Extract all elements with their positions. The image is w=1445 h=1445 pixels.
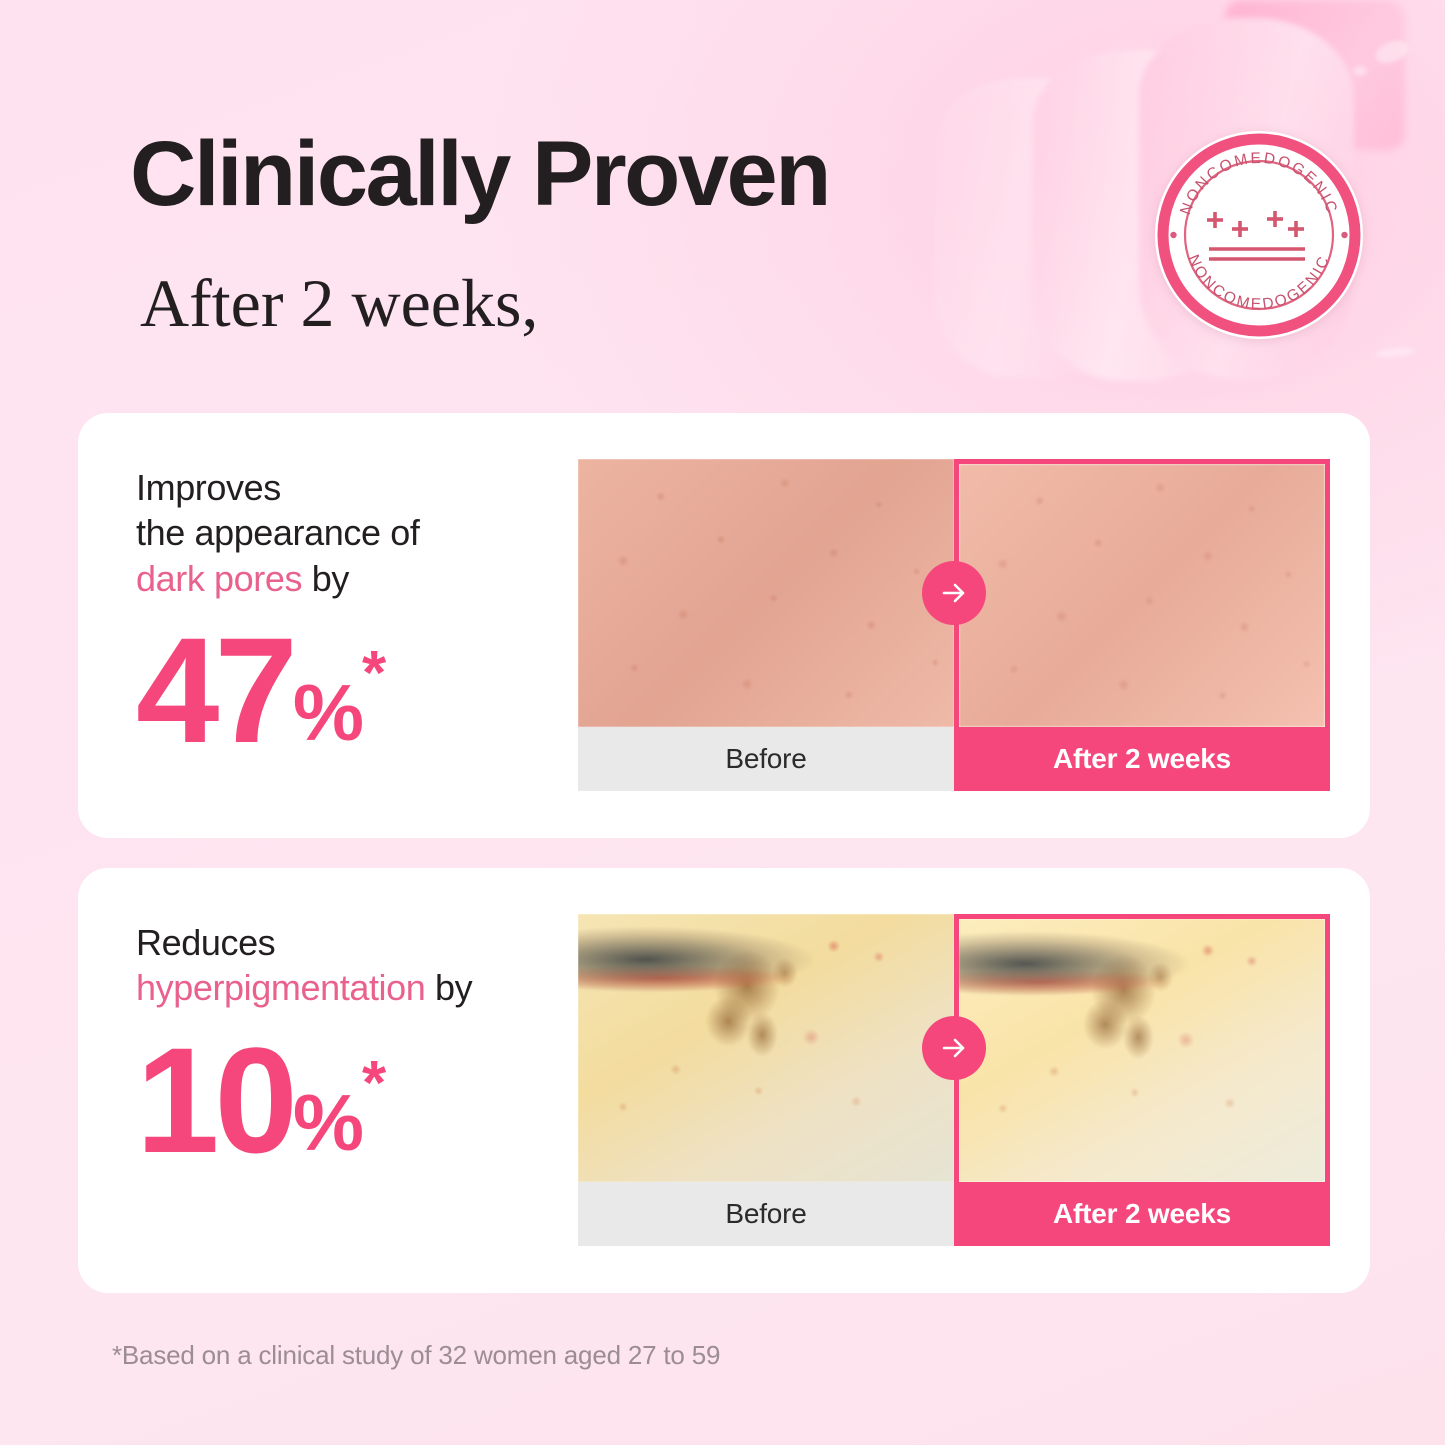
bottle-cap-shape [1225, 0, 1405, 150]
bottle-shape-1 [935, 78, 1125, 378]
stat-number: 10 [136, 1037, 293, 1163]
noncomedogenic-badge: NONCOMEDOGENIC NONCOMEDOGENIC [1153, 129, 1365, 341]
claim-line-1: Improves [136, 465, 566, 510]
highlight-blob-1 [1372, 36, 1411, 67]
highlight-blob-3 [1375, 346, 1416, 359]
claim-text-block: Improves the appearance of dark pores by… [136, 465, 566, 753]
skin-texture-pigment-before [578, 914, 954, 1182]
claim-line-1: Reduces [136, 920, 566, 965]
before-after-compare: Before After 2 weeks [578, 459, 1330, 791]
skin-texture-pores-before [578, 459, 954, 727]
stat-percent-sign: % [293, 1087, 362, 1163]
stat-value: 10 % * [136, 1037, 566, 1163]
claim-card-dark-pores: Improves the appearance of dark pores by… [78, 413, 1370, 838]
before-photo [578, 459, 954, 727]
claim-highlight: hyperpigmentation [136, 967, 425, 1008]
arrow-right-icon [922, 1016, 986, 1080]
skin-texture-pores-after [959, 464, 1325, 727]
after-photo [954, 914, 1330, 1182]
page-subtitle: After 2 weeks, [140, 268, 538, 339]
stat-value: 47 % * [136, 627, 566, 753]
claim-suffix: by [425, 967, 472, 1008]
before-label: Before [578, 727, 954, 791]
claim-line-3: dark pores by [136, 556, 566, 601]
claim-highlight: dark pores [136, 558, 302, 599]
highlight-blob-2 [1353, 66, 1367, 76]
after-photo [954, 459, 1330, 727]
stat-asterisk: * [362, 627, 386, 705]
stat-number: 47 [136, 627, 293, 753]
skin-texture-pigment-after [959, 919, 1325, 1182]
before-label: Before [578, 1182, 954, 1246]
page-title: Clinically Proven [130, 128, 829, 220]
footnote-disclaimer: *Based on a clinical study of 32 women a… [112, 1340, 720, 1371]
after-pane: After 2 weeks [954, 459, 1330, 791]
after-pane: After 2 weeks [954, 914, 1330, 1246]
stat-asterisk: * [362, 1037, 386, 1115]
before-pane: Before [578, 459, 954, 791]
after-label: After 2 weeks [954, 727, 1330, 791]
claim-suffix: by [302, 558, 349, 599]
infographic-page: Clinically Proven After 2 weeks, NONCOME… [0, 0, 1445, 1445]
after-label: After 2 weeks [954, 1182, 1330, 1246]
stat-percent-sign: % [293, 677, 362, 753]
before-after-compare: Before After 2 weeks [578, 914, 1330, 1246]
before-photo [578, 914, 954, 1182]
before-pane: Before [578, 914, 954, 1246]
arrow-right-icon [922, 561, 986, 625]
claim-line-2: the appearance of [136, 510, 566, 555]
claim-text-block: Reduces hyperpigmentation by 10 % * [136, 920, 566, 1163]
claim-card-hyperpigmentation: Reduces hyperpigmentation by 10 % * Befo… [78, 868, 1370, 1293]
claim-line-2: hyperpigmentation by [136, 965, 566, 1010]
